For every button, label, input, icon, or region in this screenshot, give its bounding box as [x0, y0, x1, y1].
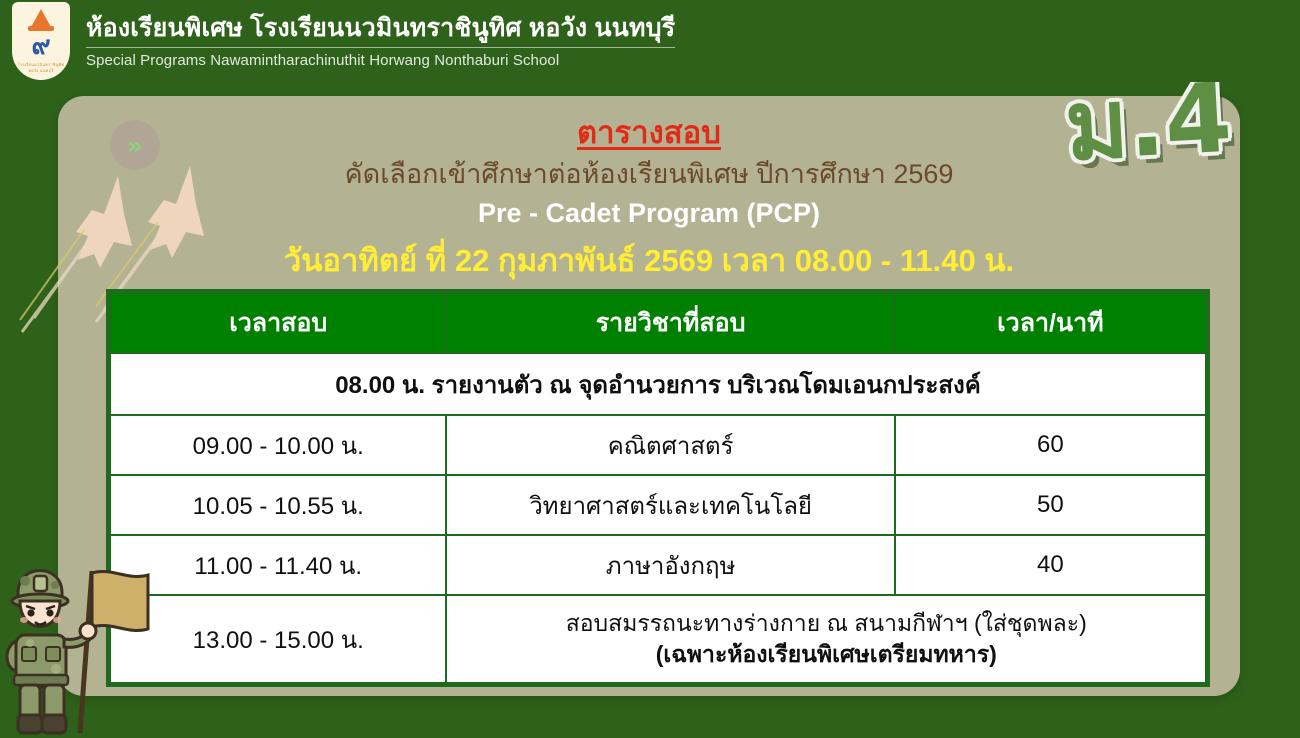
cell-exam-time: 10.05 - 10.55 น.: [110, 475, 446, 535]
header-title-thai: ห้องเรียนพิเศษ โรงเรียนนวมินทราชินูทิศ ห…: [86, 13, 675, 44]
school-crest-icon: ๙ โรงเรียนนวมินทราชินูทิศ หอวัง นนทบุรี: [12, 2, 70, 80]
physical-test-line-1: สอบสมรรถนะทางร่างกาย ณ สนามกีฬาฯ (ใส่ชุด…: [566, 610, 1087, 636]
column-header-exam-time: เวลาสอบ: [110, 293, 446, 353]
table-row: 11.00 - 11.40 น. ภาษาอังกฤษ 40: [110, 535, 1206, 595]
table-row: 09.00 - 10.00 น. คณิตศาสตร์ 60: [110, 415, 1206, 475]
cell-duration: 50: [895, 475, 1206, 535]
table-row: 10.05 - 10.55 น. วิทยาศาสตร์และเทคโนโลยี…: [110, 475, 1206, 535]
header-divider: [86, 47, 675, 48]
cell-exam-time: 11.00 - 11.40 น.: [110, 535, 446, 595]
exam-date-time: วันอาทิตย์ ที่ 22 กุมภาพันธ์ 2569 เวลา 0…: [58, 241, 1240, 281]
header-text-block: ห้องเรียนพิเศษ โรงเรียนนวมินทราชินูทิศ ห…: [86, 13, 675, 69]
table-header-row: เวลาสอบ รายวิชาที่สอบ เวลา/นาที: [110, 293, 1206, 353]
column-header-subject: รายวิชาที่สอบ: [446, 293, 894, 353]
program-name: Pre - Cadet Program (PCP): [58, 196, 1240, 231]
header-title-english: Special Programs Nawamintharachinuthit H…: [86, 52, 675, 69]
report-notice: 08.00 น. รายงานตัว ณ จุดอำนวยการ บริเวณโ…: [110, 353, 1206, 415]
page-header: ๙ โรงเรียนนวมินทราชินูทิศ หอวัง นนทบุรี …: [0, 0, 1300, 82]
cell-duration: 40: [895, 535, 1206, 595]
page-subtitle: คัดเลือกเข้าศึกษาต่อห้องเรียนพิเศษ ปีการ…: [58, 157, 1240, 192]
physical-test-line-2: (เฉพาะห้องเรียนพิเศษเตรียมทหาร): [448, 639, 1204, 670]
cell-subject: ภาษาอังกฤษ: [446, 535, 894, 595]
cell-subject: วิทยาศาสตร์และเทคโนโลยี: [446, 475, 894, 535]
cell-exam-time: 13.00 - 15.00 น.: [110, 595, 446, 683]
title-block: ตารางสอบ คัดเลือกเข้าศึกษาต่อห้องเรียนพิ…: [58, 114, 1240, 281]
crest-ribbon-text: โรงเรียนนวมินทราชินูทิศ หอวัง นนทบุรี: [12, 62, 70, 74]
cell-subject: คณิตศาสตร์: [446, 415, 894, 475]
cell-duration: 60: [895, 415, 1206, 475]
exam-schedule-card: » ม.4 ตารางสอบ คัดเลือกเข้าศึกษาต่อห้องเ…: [58, 96, 1240, 696]
page-title: ตารางสอบ: [58, 114, 1240, 153]
cell-exam-time: 09.00 - 10.00 น.: [110, 415, 446, 475]
table-row-notice: 08.00 น. รายงานตัว ณ จุดอำนวยการ บริเวณโ…: [110, 353, 1206, 415]
crest-monogram: ๙: [31, 33, 50, 59]
exam-schedule-table: เวลาสอบ รายวิชาที่สอบ เวลา/นาที 08.00 น.…: [109, 292, 1207, 684]
cell-physical-test-detail: สอบสมรรถนะทางร่างกาย ณ สนามกีฬาฯ (ใส่ชุด…: [446, 595, 1206, 683]
table-row-physical-test: 13.00 - 15.00 น. สอบสมรรถนะทางร่างกาย ณ …: [110, 595, 1206, 683]
exam-schedule-table-container: เวลาสอบ รายวิชาที่สอบ เวลา/นาที 08.00 น.…: [106, 289, 1210, 687]
crest-ribbon-line-2: หอวัง นนทบุรี: [12, 68, 70, 74]
soldier-mascot-illustration: [0, 543, 150, 738]
column-header-duration: เวลา/นาที: [895, 293, 1206, 353]
